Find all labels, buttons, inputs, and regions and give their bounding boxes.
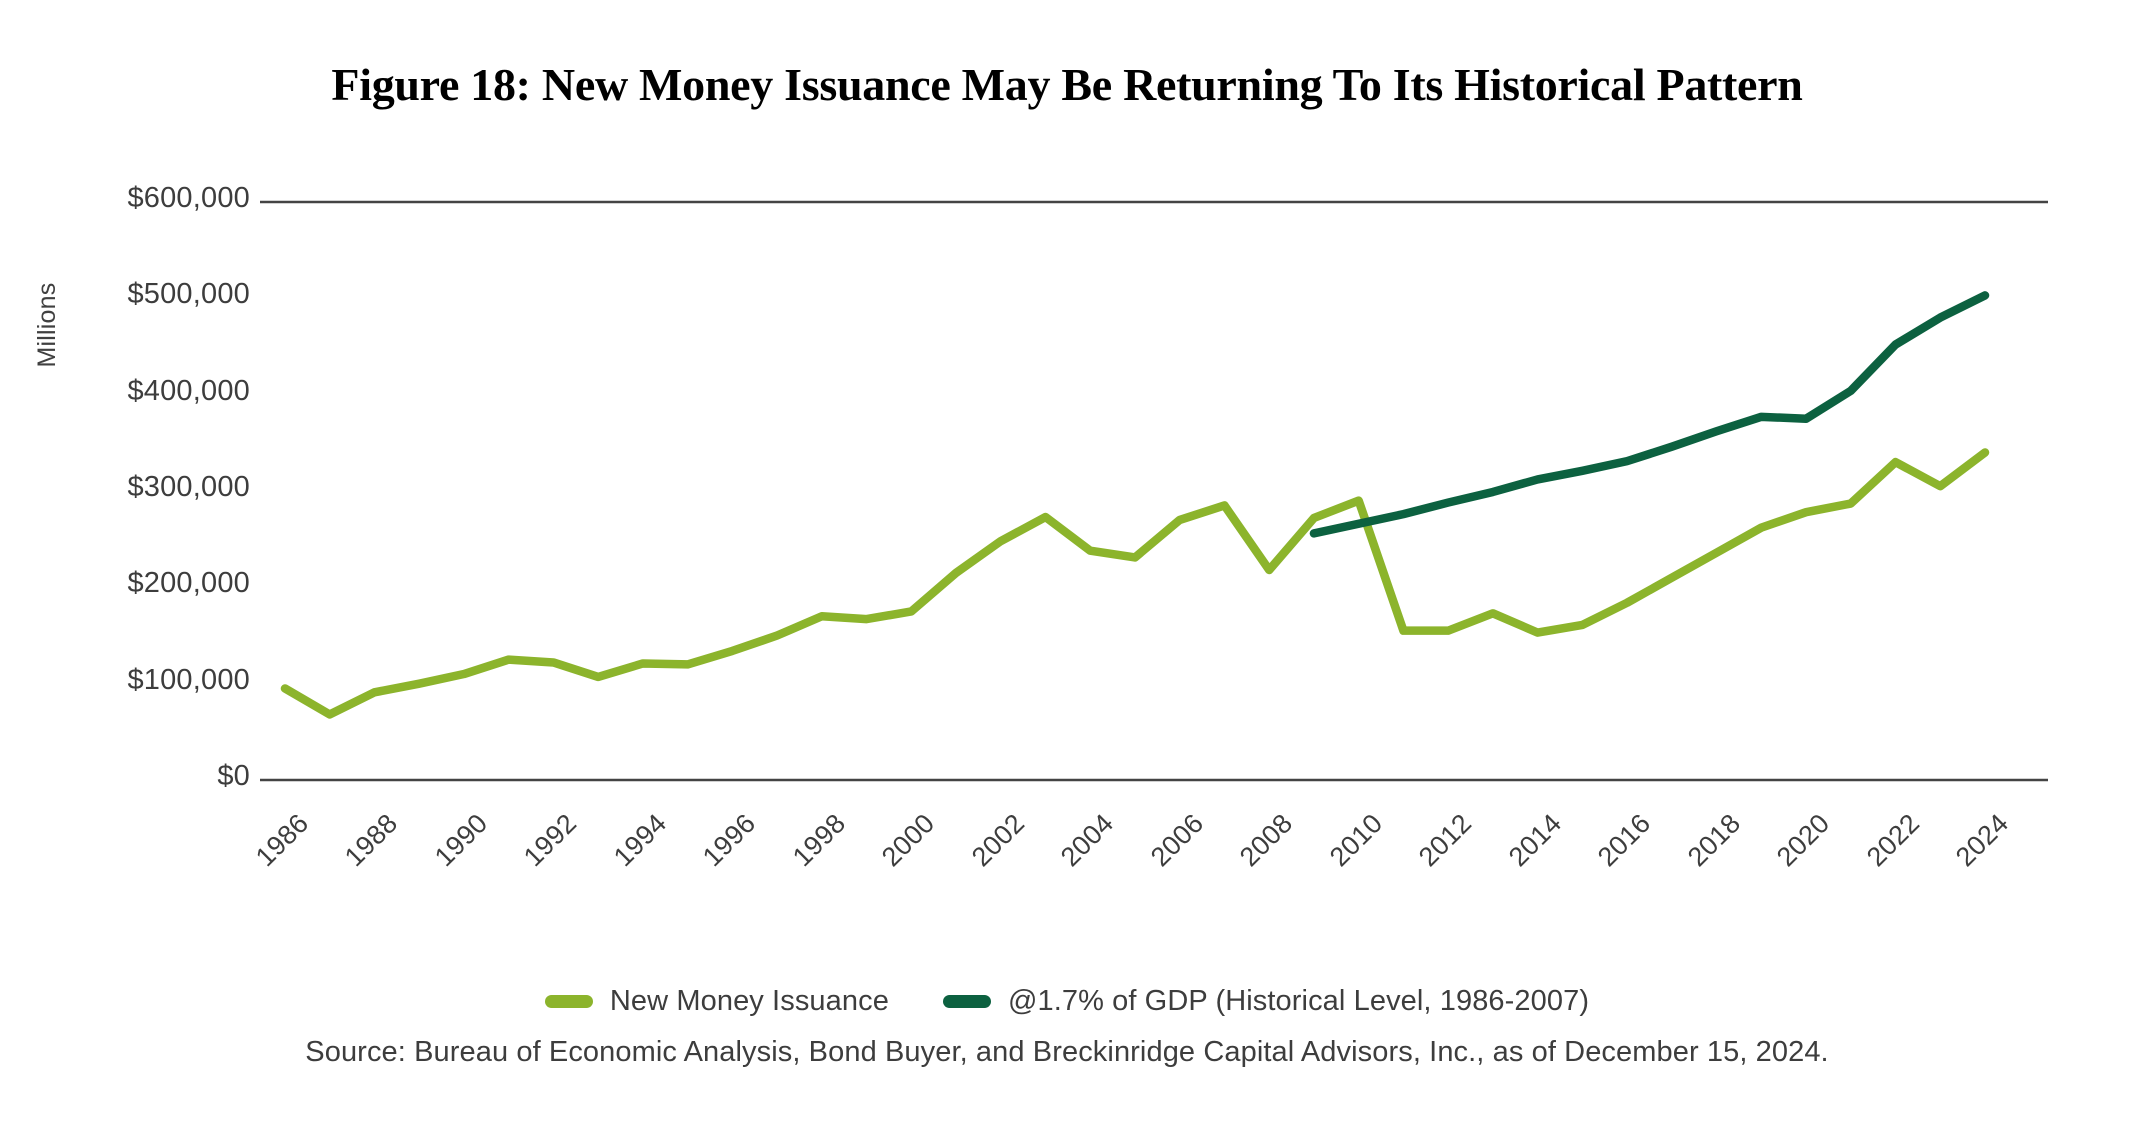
legend-swatch-icon bbox=[545, 995, 593, 1008]
series-line-new-money-issuance bbox=[285, 452, 1985, 714]
legend-label: @1.7% of GDP (Historical Level, 1986-200… bbox=[1008, 985, 1589, 1018]
chart-legend: New Money Issuance@1.7% of GDP (Historic… bbox=[0, 985, 2134, 1018]
figure-container: Figure 18: New Money Issuance May Be Ret… bbox=[0, 0, 2134, 1125]
y-tick-label: $400,000 bbox=[70, 375, 250, 408]
legend-item[interactable]: New Money Issuance bbox=[545, 985, 889, 1018]
y-tick-label: $100,000 bbox=[70, 664, 250, 697]
y-tick-label: $500,000 bbox=[70, 278, 250, 311]
y-tick-label: $200,000 bbox=[70, 567, 250, 600]
line-chart-svg bbox=[0, 0, 2134, 1125]
legend-item[interactable]: @1.7% of GDP (Historical Level, 1986-200… bbox=[943, 985, 1589, 1018]
y-tick-label: $0 bbox=[70, 760, 250, 793]
y-tick-label: $600,000 bbox=[70, 182, 250, 215]
chart-plot-area bbox=[0, 0, 2134, 1125]
y-axis-title: Millions bbox=[33, 225, 62, 425]
source-note: Source: Bureau of Economic Analysis, Bon… bbox=[0, 1036, 2134, 1069]
legend-swatch-icon bbox=[943, 995, 991, 1008]
series-line-gdp-historical bbox=[1314, 295, 1985, 533]
y-axis-tick-labels: $0$100,000$200,000$300,000$400,000$500,0… bbox=[70, 0, 250, 1125]
legend-label: New Money Issuance bbox=[610, 985, 889, 1018]
y-tick-label: $300,000 bbox=[70, 471, 250, 504]
